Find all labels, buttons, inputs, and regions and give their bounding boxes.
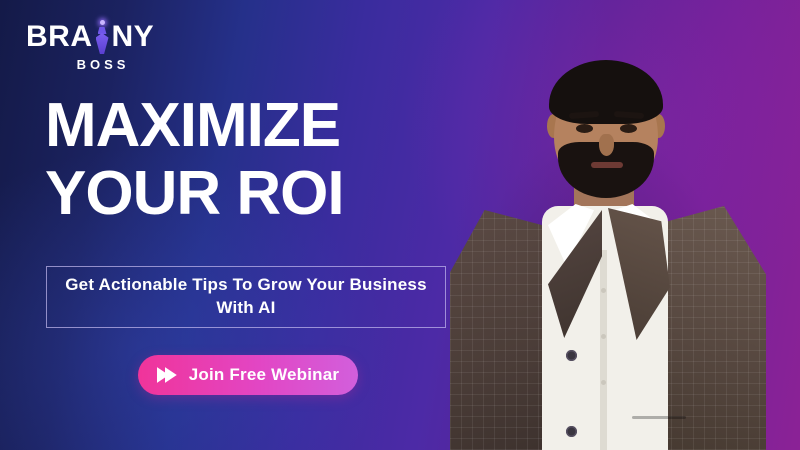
cta-label: Join Free Webinar <box>189 365 339 385</box>
jacket-button <box>566 350 577 361</box>
headline-line-2: YOUR ROI <box>45 164 475 225</box>
necktie-body <box>96 33 109 54</box>
brand-logo[interactable]: BRA NY BOSS <box>26 20 176 72</box>
shirt-button <box>601 288 606 293</box>
jacket-button <box>566 426 577 437</box>
hair <box>549 60 663 124</box>
necktie-glow-dot <box>100 20 105 25</box>
subheading-box: Get Actionable Tips To Grow Your Busines… <box>46 266 446 328</box>
logo-wordmark: BRA NY <box>26 20 176 54</box>
eye-left <box>576 124 593 133</box>
shirt-placket <box>600 250 607 450</box>
join-free-webinar-button[interactable]: Join Free Webinar <box>138 355 358 395</box>
subheading-text: Get Actionable Tips To Grow Your Busines… <box>47 274 445 320</box>
presenter-photo <box>436 38 766 450</box>
fast-forward-icon <box>157 367 179 383</box>
necktie-knot <box>98 27 107 34</box>
logo-subtitle: BOSS <box>26 57 176 72</box>
logo-text-part2: NY <box>112 22 155 52</box>
mouth <box>591 162 623 168</box>
nose <box>599 134 614 156</box>
logo-text-part1: BRA <box>26 22 93 52</box>
eye-right <box>620 124 637 133</box>
promo-banner: BRA NY BOSS MAXIMIZE YOUR ROI Get Action… <box>0 0 800 450</box>
headline-line-1: MAXIMIZE <box>45 96 475 157</box>
shirt-button <box>601 334 606 339</box>
headline: MAXIMIZE YOUR ROI <box>45 96 475 225</box>
necktie-icon <box>93 20 112 54</box>
jacket-pocket-flap <box>632 416 686 419</box>
shirt-button <box>601 380 606 385</box>
